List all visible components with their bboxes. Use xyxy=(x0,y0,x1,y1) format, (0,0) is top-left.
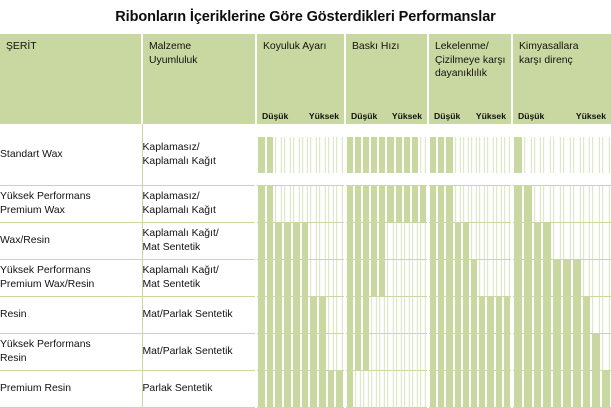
bar-segment-empty xyxy=(411,371,419,407)
bar-segment-filled xyxy=(354,260,362,296)
row-ribbon-label: Yüksek PerformansPremium Wax xyxy=(0,186,142,223)
bar-segment-filled xyxy=(346,186,354,222)
bar-segment-empty xyxy=(292,186,301,222)
bar-segment-filled xyxy=(462,334,470,370)
bar-segment-filled xyxy=(470,371,478,407)
bar-segment-filled xyxy=(572,297,582,333)
bar-segment-empty xyxy=(370,297,378,333)
bar-segment-empty xyxy=(403,334,411,370)
bar-segment-filled xyxy=(503,334,511,370)
bar-segment-empty xyxy=(542,186,552,222)
bar-segment-filled xyxy=(274,260,283,296)
bar-segment-empty xyxy=(335,297,344,333)
bar-segment-empty xyxy=(591,260,601,296)
row-material-line1: Mat/Parlak Sentetik xyxy=(143,345,256,359)
bar-segment-empty xyxy=(327,223,336,259)
segmented-bar xyxy=(257,186,344,222)
bar-segment-filled xyxy=(454,297,462,333)
bar-segment-filled xyxy=(454,371,462,407)
bar-segment-empty xyxy=(582,260,592,296)
scale-baski-hizi-high: Yüksek xyxy=(392,111,422,121)
segmented-bar xyxy=(513,260,611,296)
bar-segment-empty xyxy=(378,371,386,407)
scale-lekelenme-low: Düşük xyxy=(434,111,460,121)
segmented-bar xyxy=(429,260,511,296)
bar-segment-filled xyxy=(346,334,354,370)
bar-segment-filled xyxy=(292,371,301,407)
bar-segment-filled xyxy=(582,334,592,370)
bar-segment-filled xyxy=(274,371,283,407)
bar-segment-filled xyxy=(266,223,275,259)
bar-segment-filled xyxy=(462,223,470,259)
bar-segment-empty xyxy=(601,137,611,173)
bar-segment-filled xyxy=(513,371,523,407)
bar-segment-empty xyxy=(403,371,411,407)
bar-segment-empty xyxy=(552,137,562,173)
bar-segment-empty xyxy=(327,297,336,333)
bar-segment-filled xyxy=(478,334,486,370)
bar-segment-filled xyxy=(309,297,318,333)
bar-segment-empty xyxy=(327,186,336,222)
bar-cell-baski-hizi xyxy=(345,297,428,334)
row-ribbon-line1: Yüksek Performans xyxy=(0,264,142,278)
table-row: Yüksek PerformansResinMat/Parlak Senteti… xyxy=(0,334,611,371)
bar-segment-empty xyxy=(454,137,462,173)
bar-segment-filled xyxy=(533,297,543,333)
bar-segment-empty xyxy=(378,297,386,333)
bar-segment-filled xyxy=(542,260,552,296)
bar-segment-empty xyxy=(572,137,582,173)
bar-segment-filled xyxy=(257,297,266,333)
bar-segment-empty xyxy=(335,137,344,173)
bar-segment-filled xyxy=(552,260,562,296)
segmented-bar xyxy=(346,186,427,222)
bar-cell-koyuluk xyxy=(256,371,345,408)
table-row: Standart WaxKaplamasız/Kaplamalı Kağıt xyxy=(0,124,611,186)
scale-baski-hizi-low: Düşük xyxy=(351,111,377,121)
bar-segment-filled xyxy=(552,297,562,333)
bar-segment-filled xyxy=(562,371,572,407)
bar-segment-empty xyxy=(562,137,572,173)
row-ribbon-label: Wax/Resin xyxy=(0,223,142,260)
bar-segment-empty xyxy=(419,371,427,407)
bar-segment-filled xyxy=(445,334,453,370)
bar-segment-empty xyxy=(562,223,572,259)
bar-segment-empty xyxy=(419,223,427,259)
bar-segment-filled xyxy=(395,186,403,222)
bar-segment-empty xyxy=(411,260,419,296)
scale-koyuluk-low: Düşük xyxy=(262,111,288,121)
bar-segment-filled xyxy=(335,371,344,407)
bar-segment-filled xyxy=(542,371,552,407)
bar-segment-filled xyxy=(462,371,470,407)
bar-segment-filled xyxy=(437,260,445,296)
bar-segment-filled xyxy=(445,137,453,173)
table-row: ResinMat/Parlak Sentetik xyxy=(0,297,611,334)
bar-segment-empty xyxy=(309,260,318,296)
header-ribbon: ŞERİT xyxy=(0,34,142,106)
bar-segment-filled xyxy=(362,186,370,222)
segmented-bar xyxy=(346,334,427,370)
bar-segment-filled xyxy=(533,334,543,370)
bar-segment-empty xyxy=(591,186,601,222)
scale-kimyasallara: Düşük Yüksek xyxy=(512,106,611,124)
header-metric-koyuluk-label: Koyuluk Ayarı xyxy=(263,40,344,54)
bar-segment-empty xyxy=(601,260,611,296)
bar-segment-empty xyxy=(523,137,533,173)
segmented-bar xyxy=(513,371,611,407)
bar-segment-empty xyxy=(395,334,403,370)
bar-cell-baski-hizi xyxy=(345,223,428,260)
bar-segment-filled xyxy=(429,334,437,370)
bar-cell-koyuluk xyxy=(256,334,345,371)
bar-segment-filled xyxy=(378,260,386,296)
bar-segment-filled xyxy=(533,371,543,407)
bar-segment-empty xyxy=(495,223,503,259)
bar-segment-filled xyxy=(403,186,411,222)
bar-segment-filled xyxy=(437,297,445,333)
bar-segment-filled xyxy=(462,297,470,333)
bar-segment-filled xyxy=(552,334,562,370)
bar-segment-empty xyxy=(309,223,318,259)
bar-segment-filled xyxy=(283,260,292,296)
table-row: Yüksek PerformansPremium Wax/ResinKaplam… xyxy=(0,260,611,297)
row-ribbon-line2: Resin xyxy=(0,352,142,366)
bar-segment-empty xyxy=(601,223,611,259)
bar-segment-filled xyxy=(513,137,523,173)
bar-segment-filled xyxy=(445,297,453,333)
bar-segment-empty xyxy=(486,260,494,296)
bar-cell-lekelenme xyxy=(428,223,512,260)
bar-segment-empty xyxy=(395,260,403,296)
bar-segment-empty xyxy=(327,260,336,296)
bar-segment-empty xyxy=(327,137,336,173)
bar-cell-lekelenme xyxy=(428,124,512,186)
row-material-line2: Kaplamalı Kağıt xyxy=(143,155,256,169)
bar-segment-empty xyxy=(495,260,503,296)
bar-segment-filled xyxy=(309,334,318,370)
bar-segment-filled xyxy=(445,186,453,222)
bar-cell-kimyasallara xyxy=(512,297,611,334)
bar-segment-filled xyxy=(582,297,592,333)
bar-segment-filled xyxy=(378,137,386,173)
header-material-line2: Uyumluluk xyxy=(149,54,255,68)
bar-segment-filled xyxy=(486,371,494,407)
segmented-bar xyxy=(429,297,511,333)
bar-segment-filled xyxy=(454,223,462,259)
bar-segment-filled xyxy=(370,137,378,173)
header-metric-kimyasallara-line1: Kimyasallara xyxy=(519,40,611,54)
header-row: ŞERİT Malzeme Uyumluluk Koyuluk Ayarı Ba… xyxy=(0,34,611,106)
row-ribbon-label: Resin xyxy=(0,297,142,334)
bar-segment-filled xyxy=(362,137,370,173)
bar-segment-empty xyxy=(601,297,611,333)
bar-segment-filled xyxy=(601,371,611,407)
bar-segment-empty xyxy=(582,186,592,222)
bar-segment-empty xyxy=(562,186,572,222)
header-material-line1: Malzeme xyxy=(149,40,255,54)
scale-koyuluk-high: Yüksek xyxy=(309,111,339,121)
bar-segment-filled xyxy=(301,260,310,296)
bar-cell-lekelenme xyxy=(428,186,512,223)
bar-segment-empty xyxy=(470,186,478,222)
bar-segment-filled xyxy=(283,223,292,259)
bar-segment-filled xyxy=(327,371,336,407)
bar-segment-filled xyxy=(257,223,266,259)
bar-segment-empty xyxy=(335,334,344,370)
bar-cell-koyuluk xyxy=(256,186,345,223)
bar-cell-kimyasallara xyxy=(512,186,611,223)
bar-cell-kimyasallara xyxy=(512,334,611,371)
bar-segment-filled xyxy=(429,137,437,173)
bar-segment-empty xyxy=(503,137,511,173)
bar-segment-filled xyxy=(386,186,394,222)
bar-segment-filled xyxy=(403,137,411,173)
bar-segment-filled xyxy=(523,297,533,333)
bar-segment-empty xyxy=(462,186,470,222)
table-row: Wax/ResinKaplamalı Kağıt/Mat Sentetik xyxy=(0,223,611,260)
scale-lekelenme-high: Yüksek xyxy=(476,111,506,121)
bar-segment-filled xyxy=(257,371,266,407)
bar-segment-filled xyxy=(266,137,275,173)
bar-segment-filled xyxy=(562,334,572,370)
bar-segment-filled xyxy=(266,260,275,296)
bar-segment-filled xyxy=(266,186,275,222)
bar-segment-empty xyxy=(301,186,310,222)
bar-cell-baski-hizi xyxy=(345,124,428,186)
row-material-label: Kaplamasız/Kaplamalı Kağıt xyxy=(142,124,256,186)
bar-segment-empty xyxy=(533,137,543,173)
row-material-label: Kaplamalı Kağıt/Mat Sentetik xyxy=(142,260,256,297)
bar-segment-empty xyxy=(495,137,503,173)
bar-segment-empty xyxy=(283,186,292,222)
bar-segment-filled xyxy=(346,260,354,296)
scale-baski-hizi: Düşük Yüksek xyxy=(345,106,428,124)
bar-segment-filled xyxy=(572,334,582,370)
bar-segment-filled xyxy=(411,137,419,173)
segmented-bar xyxy=(429,223,511,259)
bar-segment-filled xyxy=(292,260,301,296)
row-ribbon-label: Yüksek PerformansPremium Wax/Resin xyxy=(0,260,142,297)
scale-kimyasallara-high: Yüksek xyxy=(576,111,606,121)
bar-segment-empty xyxy=(403,223,411,259)
bar-segment-empty xyxy=(309,137,318,173)
bar-segment-empty xyxy=(419,137,427,173)
bar-segment-empty xyxy=(486,223,494,259)
row-ribbon-label: Premium Resin xyxy=(0,371,142,408)
segmented-bar xyxy=(346,137,427,173)
bar-segment-filled xyxy=(301,297,310,333)
performance-table-page: Ribonların İçeriklerine Göre Gösterdikle… xyxy=(0,0,611,408)
bar-cell-lekelenme xyxy=(428,334,512,371)
bar-segment-filled xyxy=(462,260,470,296)
segmented-bar xyxy=(513,223,611,259)
bar-segment-empty xyxy=(318,137,327,173)
bar-segment-filled xyxy=(354,137,362,173)
bar-segment-empty xyxy=(318,260,327,296)
bar-segment-filled xyxy=(470,334,478,370)
bar-segment-empty xyxy=(301,137,310,173)
bar-segment-filled xyxy=(429,297,437,333)
bar-segment-filled xyxy=(346,371,354,407)
segmented-bar xyxy=(346,371,427,407)
bar-segment-empty xyxy=(386,223,394,259)
bar-segment-empty xyxy=(470,223,478,259)
bar-segment-filled xyxy=(454,334,462,370)
bar-segment-filled xyxy=(562,297,572,333)
bar-cell-koyuluk xyxy=(256,260,345,297)
bar-segment-filled xyxy=(257,334,266,370)
bar-segment-filled xyxy=(503,371,511,407)
bar-segment-filled xyxy=(370,186,378,222)
row-material-line1: Parlak Sentetik xyxy=(143,382,256,396)
row-ribbon-label: Yüksek PerformansResin xyxy=(0,334,142,371)
bar-segment-empty xyxy=(292,137,301,173)
bar-segment-filled xyxy=(495,297,503,333)
row-material-label: Kaplamalı Kağıt/Mat Sentetik xyxy=(142,223,256,260)
bar-cell-koyuluk xyxy=(256,297,345,334)
bar-segment-filled xyxy=(552,371,562,407)
bar-segment-filled xyxy=(429,371,437,407)
segmented-bar xyxy=(513,186,611,222)
bar-segment-empty xyxy=(411,297,419,333)
bar-segment-filled xyxy=(513,297,523,333)
header-metric-kimyasallara: Kimyasallara karşı direnç xyxy=(512,34,611,106)
bar-segment-empty xyxy=(478,260,486,296)
bar-segment-filled xyxy=(292,223,301,259)
row-ribbon-line1: Yüksek Performans xyxy=(0,190,142,204)
bar-segment-empty xyxy=(419,297,427,333)
bar-segment-empty xyxy=(572,223,582,259)
bar-segment-filled xyxy=(266,334,275,370)
bar-segment-filled xyxy=(274,223,283,259)
table-row: Yüksek PerformansPremium WaxKaplamasız/K… xyxy=(0,186,611,223)
header-metric-koyuluk: Koyuluk Ayarı xyxy=(256,34,345,106)
bar-segment-filled xyxy=(362,260,370,296)
bar-segment-filled xyxy=(445,371,453,407)
row-ribbon-line1: Yüksek Performans xyxy=(0,338,142,352)
segmented-bar xyxy=(513,334,611,370)
bar-segment-empty xyxy=(283,137,292,173)
header-metric-baski-hizi-label: Baskı Hızı xyxy=(352,40,427,54)
bar-segment-filled xyxy=(572,371,582,407)
bar-segment-filled xyxy=(445,223,453,259)
bar-cell-kimyasallara xyxy=(512,223,611,260)
bar-segment-empty xyxy=(370,371,378,407)
segmented-bar xyxy=(257,334,344,370)
bar-segment-filled xyxy=(429,223,437,259)
bar-segment-filled xyxy=(301,334,310,370)
bar-segment-filled xyxy=(283,334,292,370)
segmented-bar xyxy=(257,371,344,407)
row-material-line1: Mat/Parlak Sentetik xyxy=(143,308,256,322)
bar-segment-empty xyxy=(335,223,344,259)
bar-segment-filled xyxy=(266,297,275,333)
bar-cell-lekelenme xyxy=(428,260,512,297)
bar-segment-filled xyxy=(378,223,386,259)
bar-segment-filled xyxy=(478,297,486,333)
bar-segment-filled xyxy=(542,297,552,333)
bar-cell-kimyasallara xyxy=(512,260,611,297)
scale-label-row: Düşük Yüksek Düşük Yüksek Düşük Yüksek xyxy=(0,106,611,124)
row-material-line1: Kaplamalı Kağıt/ xyxy=(143,264,256,278)
bar-segment-empty xyxy=(386,334,394,370)
header-ribbon-label: ŞERİT xyxy=(6,40,141,54)
bar-segment-empty xyxy=(478,223,486,259)
segmented-bar xyxy=(257,137,344,173)
bar-segment-empty xyxy=(495,186,503,222)
bar-segment-filled xyxy=(395,137,403,173)
bar-segment-empty xyxy=(386,260,394,296)
bar-cell-koyuluk xyxy=(256,124,345,186)
row-material-label: Kaplamasız/Kaplamalı Kağıt xyxy=(142,186,256,223)
bar-segment-filled xyxy=(362,297,370,333)
bar-segment-filled xyxy=(437,371,445,407)
bar-segment-empty xyxy=(572,186,582,222)
scale-lekelenme: Düşük Yüksek xyxy=(428,106,512,124)
bar-segment-filled xyxy=(513,186,523,222)
table-row: Premium ResinParlak Sentetik xyxy=(0,371,611,408)
segmented-bar xyxy=(257,297,344,333)
bar-segment-filled xyxy=(486,297,494,333)
segmented-bar xyxy=(257,223,344,259)
scale-blank-ribbon xyxy=(0,106,142,124)
bar-segment-empty xyxy=(454,186,462,222)
bar-segment-empty xyxy=(395,297,403,333)
bar-segment-filled xyxy=(470,260,478,296)
bar-segment-empty xyxy=(503,223,511,259)
bar-segment-filled xyxy=(354,186,362,222)
bar-segment-filled xyxy=(283,297,292,333)
bar-segment-filled xyxy=(437,223,445,259)
bar-segment-filled xyxy=(523,223,533,259)
scale-kimyasallara-low: Düşük xyxy=(518,111,544,121)
bar-segment-empty xyxy=(378,334,386,370)
header-material: Malzeme Uyumluluk xyxy=(142,34,256,106)
header-metric-baski-hizi: Baskı Hızı xyxy=(345,34,428,106)
bar-segment-empty xyxy=(419,260,427,296)
bar-segment-empty xyxy=(486,137,494,173)
row-ribbon-line2: Premium Wax xyxy=(0,204,142,218)
segmented-bar xyxy=(429,334,511,370)
bar-segment-filled xyxy=(318,371,327,407)
bar-segment-empty xyxy=(542,137,552,173)
table-header: ŞERİT Malzeme Uyumluluk Koyuluk Ayarı Ba… xyxy=(0,34,611,124)
bar-segment-empty xyxy=(601,334,611,370)
bar-segment-filled xyxy=(266,371,275,407)
bar-segment-filled xyxy=(591,371,601,407)
bar-segment-filled xyxy=(542,223,552,259)
bar-segment-empty xyxy=(582,137,592,173)
bar-segment-filled xyxy=(354,297,362,333)
header-metric-lekelenme: Lekelenme/ Çizilmeye karşı dayanıklılık xyxy=(428,34,512,106)
bar-segment-filled xyxy=(533,223,543,259)
row-material-label: Mat/Parlak Sentetik xyxy=(142,297,256,334)
bar-cell-lekelenme xyxy=(428,371,512,408)
bar-segment-filled xyxy=(437,334,445,370)
bar-segment-empty xyxy=(591,223,601,259)
bar-segment-empty xyxy=(582,223,592,259)
bar-segment-empty xyxy=(552,223,562,259)
segmented-bar xyxy=(257,260,344,296)
segmented-bar xyxy=(513,137,611,173)
bar-segment-filled xyxy=(542,334,552,370)
bar-segment-filled xyxy=(503,297,511,333)
bar-segment-empty xyxy=(386,371,394,407)
bar-segment-empty xyxy=(411,334,419,370)
bar-segment-empty xyxy=(591,297,601,333)
row-material-line2: Mat Sentetik xyxy=(143,278,256,292)
